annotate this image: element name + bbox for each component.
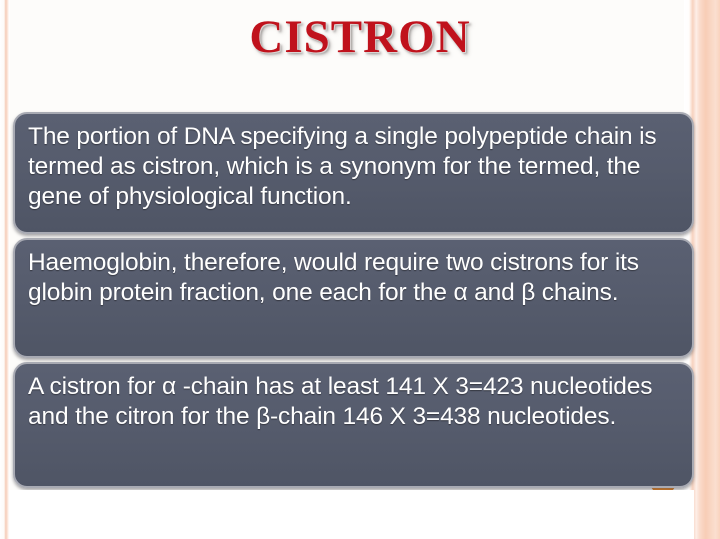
content-box-2: Haemoglobin, therefore, would require tw… <box>13 238 694 358</box>
left-edge-decoration <box>0 0 10 539</box>
content-box-3-text: A cistron for α -chain has at least 141 … <box>28 372 679 432</box>
slide-title: CISTRON <box>0 14 720 61</box>
content-box-2-text: Haemoglobin, therefore, would require tw… <box>28 248 679 308</box>
slide-canvas: CISTRON The portion of DNA specifying a … <box>0 0 720 539</box>
bottom-blank-area <box>10 490 694 539</box>
content-box-3: A cistron for α -chain has at least 141 … <box>13 362 694 488</box>
content-box-1-text: The portion of DNA specifying a single p… <box>28 122 679 212</box>
content-box-1: The portion of DNA specifying a single p… <box>13 112 694 234</box>
